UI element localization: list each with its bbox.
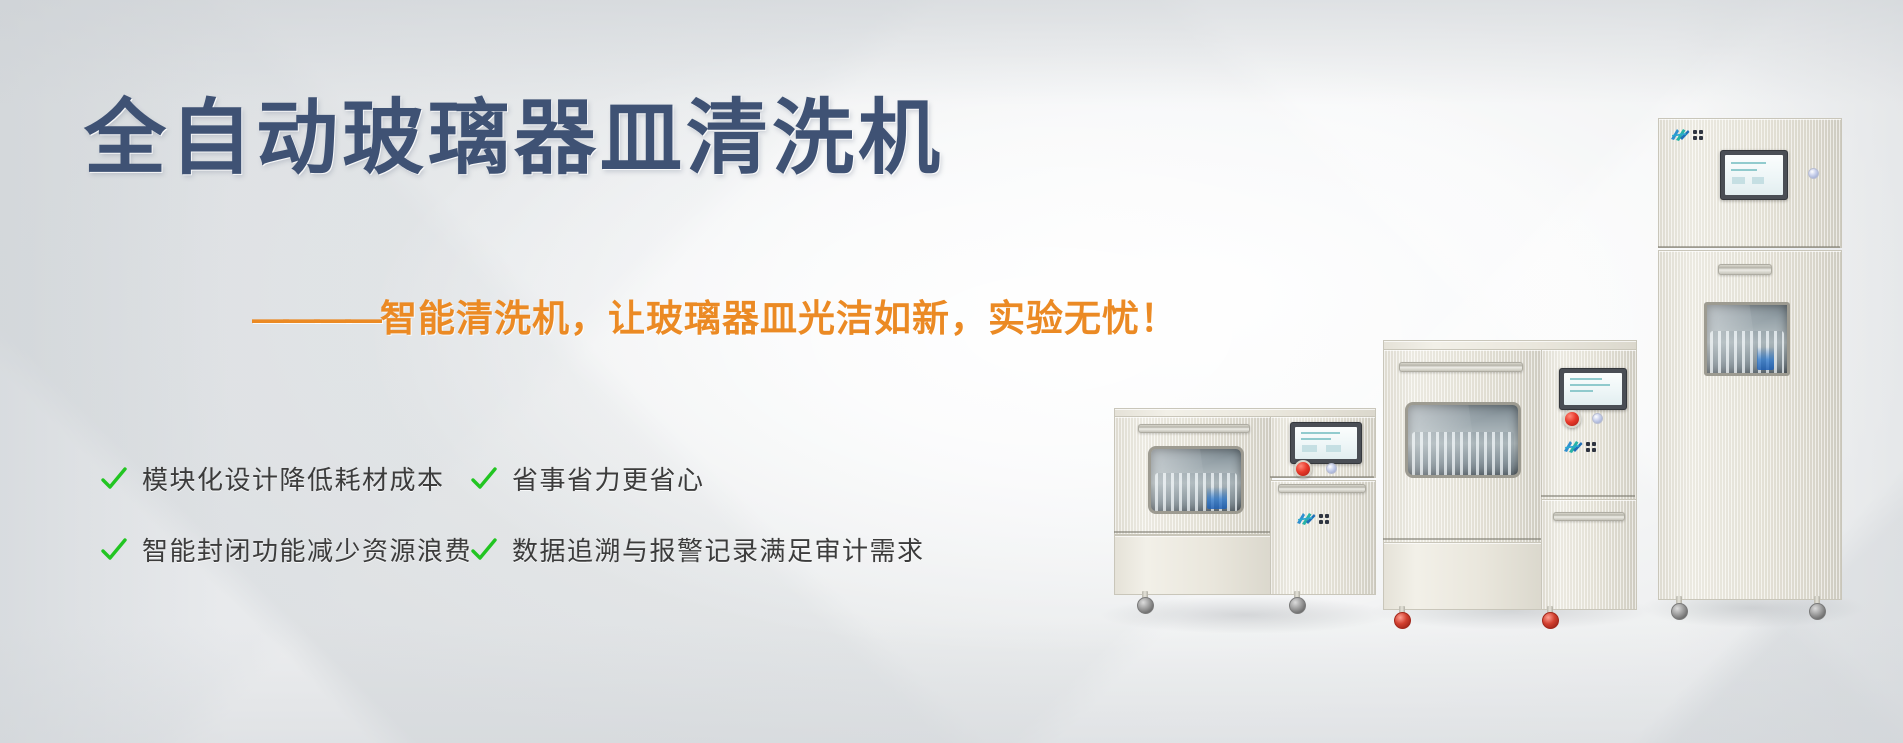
- check-icon: [100, 536, 128, 564]
- product-hero-banner: 全自动玻璃器皿清洗机 ————智能清洗机，让玻璃器皿光洁如新，实验无忧！ 模块化…: [0, 0, 1903, 743]
- feature-item-0: 模块化设计降低耗材成本: [100, 460, 470, 497]
- check-icon: [100, 465, 128, 493]
- banner-subheadline: ————智能清洗机，让玻璃器皿光洁如新，实验无忧！: [252, 288, 1178, 342]
- feature-label: 省事省力更省心: [512, 460, 705, 497]
- feature-label: 智能封闭功能减少资源浪费: [142, 531, 472, 568]
- feature-row: 智能封闭功能减少资源浪费 数据追溯与报警记录满足审计需求: [100, 531, 1080, 568]
- check-icon: [470, 536, 498, 564]
- feature-list: 模块化设计降低耗材成本 省事省力更省心 智能封闭功能减少资源浪费 数据追: [100, 460, 1080, 602]
- feature-label: 模块化设计降低耗材成本: [142, 460, 445, 497]
- feature-row: 模块化设计降低耗材成本 省事省力更省心: [100, 460, 1080, 497]
- feature-label: 数据追溯与报警记录满足审计需求: [512, 531, 925, 568]
- subheadline-dash: ————: [252, 298, 376, 339]
- feature-item-3: 数据追溯与报警记录满足审计需求: [470, 531, 990, 568]
- feature-item-1: 省事省力更省心: [470, 460, 990, 497]
- check-icon: [470, 465, 498, 493]
- banner-headline: 全自动玻璃器皿清洗机: [84, 96, 944, 183]
- subheadline-text: 智能清洗机，让玻璃器皿光洁如新，实验无忧！: [380, 298, 1178, 339]
- feature-item-2: 智能封闭功能减少资源浪费: [100, 531, 470, 568]
